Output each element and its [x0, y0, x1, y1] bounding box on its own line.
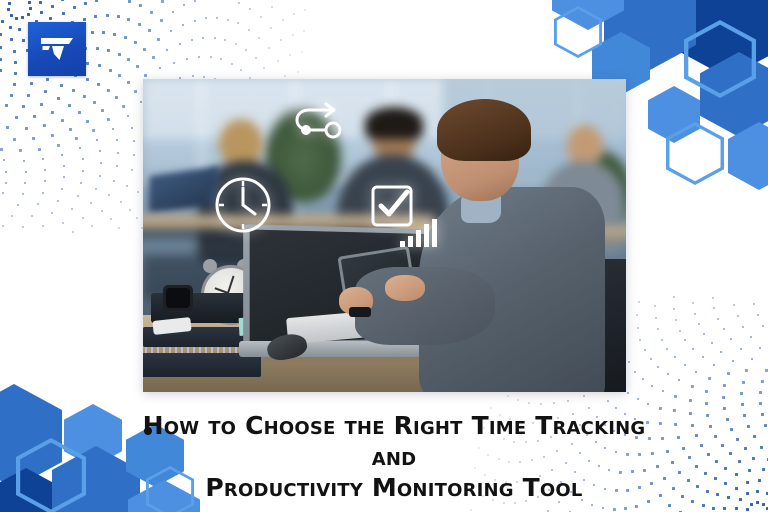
man-hand-right [385, 275, 425, 301]
smartwatch-screen [166, 288, 190, 308]
workflow-icon [291, 101, 347, 143]
hero-image [143, 79, 626, 392]
page-title: How to Choose the Right Time Tracking an… [140, 410, 648, 503]
man-arm [355, 267, 495, 345]
bar-chart-icon [399, 219, 437, 249]
brand-logo[interactable] [28, 22, 86, 76]
man-hair [437, 99, 531, 161]
poster-canvas: How to Choose the Right Time Tracking an… [0, 0, 768, 512]
logo-t-flag-icon [39, 35, 75, 63]
clock-icon [213, 175, 273, 235]
page-title-line1: How to Choose the Right Time Tracking an… [140, 410, 648, 472]
page-title-line2: Productivity Monitoring Tool [140, 472, 648, 503]
man-wristwatch [349, 307, 371, 317]
